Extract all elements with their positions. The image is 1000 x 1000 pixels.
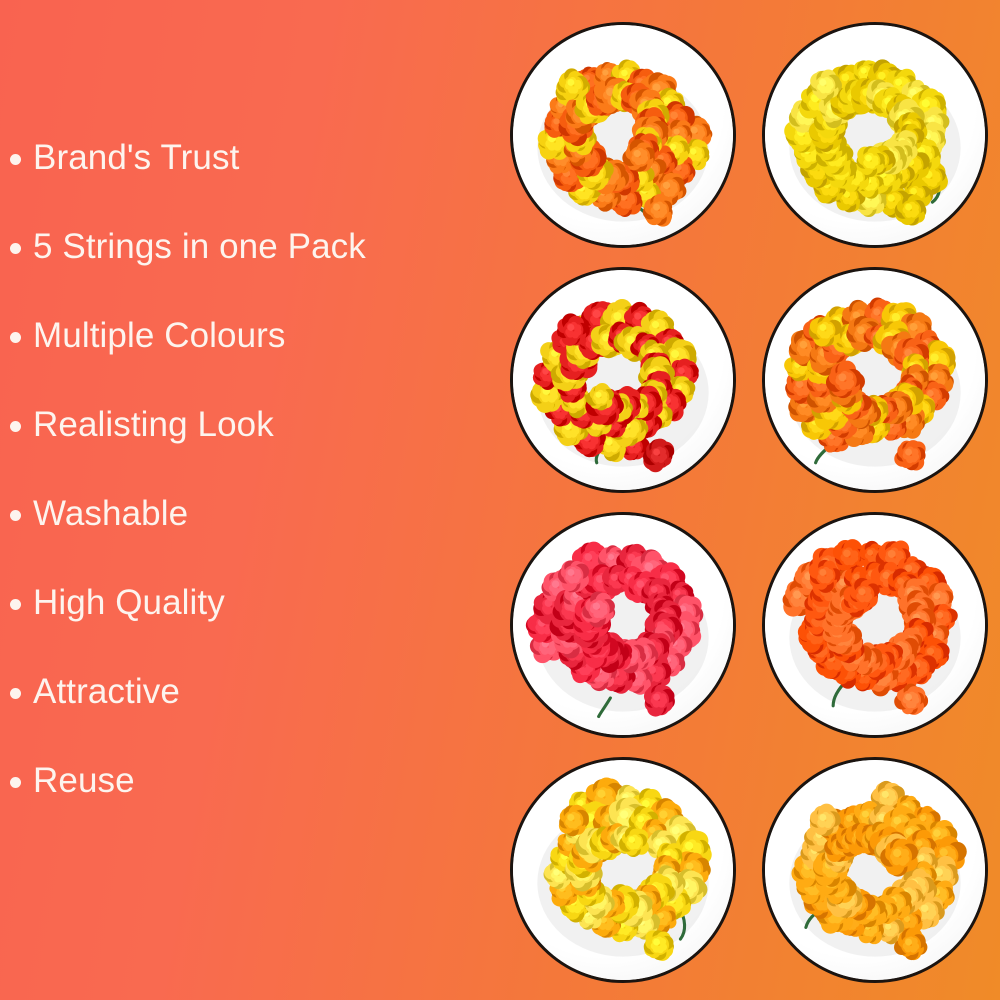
bullet-point-icon <box>10 154 21 165</box>
bullet-point-icon <box>10 599 21 610</box>
feature-item: Realisting Look <box>10 407 500 442</box>
marigold-garland-illustration <box>765 515 985 735</box>
marigold-garland-illustration <box>513 270 733 490</box>
feature-item: Washable <box>10 496 500 531</box>
feature-label: Reuse <box>33 763 135 798</box>
feature-item: High Quality <box>10 585 500 620</box>
product-photo-marigold-garland <box>510 267 736 493</box>
product-photo-marigold-garland <box>762 512 988 738</box>
feature-label: High Quality <box>33 585 225 620</box>
product-photo-marigold-garland <box>762 757 988 983</box>
bullet-point-icon <box>10 777 21 788</box>
bullet-point-icon <box>10 421 21 432</box>
product-photo-marigold-garland <box>762 22 988 248</box>
feature-label: Realisting Look <box>33 407 274 442</box>
marigold-garland-illustration <box>513 515 733 735</box>
marigold-garland-illustration <box>513 760 733 980</box>
product-photo-marigold-garland <box>510 512 736 738</box>
marigold-garland-illustration <box>765 270 985 490</box>
product-photo-marigold-garland <box>510 757 736 983</box>
feature-item: Multiple Colours <box>10 318 500 353</box>
feature-list: Brand's Trust 5 Strings in one Pack Mult… <box>0 0 500 1000</box>
feature-item: 5 Strings in one Pack <box>10 229 500 264</box>
product-photo-marigold-garland <box>510 22 736 248</box>
product-photo-grid <box>510 22 1000 982</box>
feature-label: Washable <box>33 496 188 531</box>
product-feature-infographic: Brand's Trust 5 Strings in one Pack Mult… <box>0 0 1000 1000</box>
feature-label: Brand's Trust <box>33 140 239 175</box>
bullet-point-icon <box>10 510 21 521</box>
bullet-point-icon <box>10 688 21 699</box>
product-photo-marigold-garland <box>762 267 988 493</box>
feature-label: 5 Strings in one Pack <box>33 229 366 264</box>
feature-item: Brand's Trust <box>10 140 500 175</box>
marigold-garland-illustration <box>513 25 733 245</box>
bullet-point-icon <box>10 243 21 254</box>
marigold-garland-illustration <box>765 25 985 245</box>
feature-item: Reuse <box>10 763 500 798</box>
feature-label: Multiple Colours <box>33 318 286 353</box>
marigold-garland-illustration <box>765 760 985 980</box>
feature-item: Attractive <box>10 674 500 709</box>
bullet-point-icon <box>10 332 21 343</box>
feature-label: Attractive <box>33 674 180 709</box>
